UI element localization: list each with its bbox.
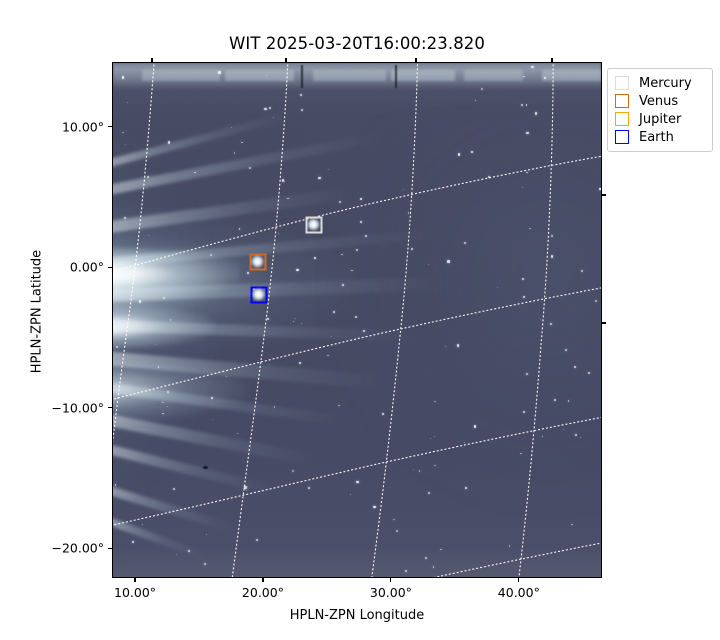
- star: [551, 235, 553, 237]
- legend-swatch-jupiter: [615, 112, 629, 126]
- star: [497, 287, 498, 288]
- star: [403, 189, 404, 190]
- star: [540, 319, 541, 320]
- star: [588, 372, 590, 374]
- star: [393, 519, 394, 520]
- x-tick-bottom: [262, 578, 263, 582]
- star: [314, 257, 316, 259]
- star: [428, 492, 430, 494]
- star: [299, 362, 301, 364]
- x-tick-top: [415, 58, 416, 62]
- y-tick-label: −20.00°: [12, 541, 104, 556]
- star: [428, 264, 429, 265]
- figure-canvas: WIT 2025-03-20T16:00:23.820: [0, 0, 720, 640]
- star: [300, 94, 302, 96]
- y-tick-right: [602, 194, 606, 195]
- star: [295, 318, 296, 319]
- star: [554, 399, 556, 401]
- x-tick-bottom: [518, 578, 519, 582]
- star: [574, 366, 576, 368]
- legend-label-mercury: Mercury: [639, 76, 692, 91]
- plot-title: WIT 2025-03-20T16:00:23.820: [112, 34, 602, 53]
- x-tick-label: 30.00°: [370, 585, 412, 600]
- star: [125, 144, 126, 145]
- top-band-streak: [464, 70, 523, 81]
- star: [147, 176, 149, 178]
- star: [550, 323, 552, 325]
- star: [122, 76, 124, 78]
- star: [308, 487, 310, 489]
- legend-item-jupiter[interactable]: Jupiter: [615, 110, 706, 128]
- top-band-streak: [391, 70, 454, 81]
- planet-marker-mercury[interactable]: [305, 216, 322, 233]
- star: [520, 453, 521, 454]
- star: [568, 400, 570, 402]
- y-tick-label: 10.00°: [12, 119, 104, 134]
- star: [464, 442, 465, 443]
- star: [522, 278, 524, 280]
- star: [430, 438, 431, 439]
- star: [458, 153, 460, 155]
- star: [434, 465, 435, 466]
- star: [176, 554, 177, 555]
- y-tick-left: [108, 267, 112, 268]
- diffuse-background-glow: [308, 114, 601, 525]
- x-tick-label: 40.00°: [498, 585, 540, 600]
- star: [274, 406, 275, 407]
- corona-bright-lobe-bottom: [113, 361, 250, 423]
- y-tick-left: [108, 126, 112, 127]
- planet-glow-earth: [253, 289, 265, 301]
- star: [544, 77, 546, 79]
- star: [526, 132, 528, 134]
- star: [481, 88, 482, 89]
- star: [440, 549, 441, 550]
- star: [267, 318, 269, 320]
- star: [571, 524, 573, 526]
- planet-marker-venus[interactable]: [249, 253, 266, 270]
- x-axis-label: HPLN-ZPN Longitude: [112, 608, 602, 623]
- star: [581, 270, 583, 272]
- legend-swatch-mercury: [615, 76, 629, 90]
- legend-label-venus: Venus: [639, 94, 678, 109]
- star: [244, 486, 246, 488]
- star: [162, 402, 163, 403]
- star: [509, 545, 510, 546]
- star: [249, 167, 251, 169]
- corona-bright-lobe-upper: [113, 248, 240, 299]
- top-band-streak: [225, 70, 293, 81]
- x-tick-top: [551, 58, 552, 62]
- star: [226, 376, 227, 377]
- star: [163, 297, 165, 299]
- star: [167, 391, 169, 393]
- corona-bright-lobe-lower: [113, 305, 215, 349]
- star: [457, 344, 459, 346]
- star: [595, 300, 597, 302]
- star: [122, 132, 123, 133]
- planet-glow-venus: [252, 256, 264, 268]
- star: [599, 188, 601, 190]
- x-tick-label: 20.00°: [242, 585, 284, 600]
- legend-label-jupiter: Jupiter: [639, 112, 681, 127]
- star: [278, 233, 279, 234]
- star: [447, 260, 449, 262]
- star: [292, 470, 293, 471]
- star: [373, 506, 375, 508]
- star: [338, 405, 340, 407]
- x-tick-label: 10.00°: [114, 585, 156, 600]
- dark-column-artifact: [395, 65, 397, 89]
- star: [411, 248, 413, 250]
- y-tick-label: −10.00°: [12, 400, 104, 415]
- star: [148, 235, 149, 236]
- legend-item-earth[interactable]: Earth: [615, 128, 706, 146]
- star: [356, 249, 358, 251]
- dark-column-artifact: [301, 65, 303, 89]
- star: [526, 373, 528, 375]
- star: [301, 109, 303, 111]
- star: [204, 563, 206, 565]
- legend-label-earth: Earth: [639, 130, 674, 145]
- legend-swatch-earth: [615, 130, 629, 144]
- star: [339, 201, 341, 203]
- star: [269, 364, 270, 365]
- star: [396, 530, 397, 531]
- star: [116, 346, 118, 348]
- x-tick-top: [285, 58, 286, 62]
- y-tick-left: [108, 548, 112, 549]
- star: [550, 82, 551, 83]
- planet-glow-mercury: [308, 219, 320, 231]
- planet-marker-earth[interactable]: [250, 286, 267, 303]
- star: [210, 254, 212, 256]
- legend-box[interactable]: MercuryVenusJupiterEarth: [607, 68, 713, 152]
- star: [264, 108, 266, 110]
- star: [318, 177, 320, 179]
- star: [382, 413, 384, 415]
- star: [365, 235, 367, 237]
- star: [173, 488, 175, 490]
- legend-item-mercury[interactable]: Mercury: [615, 74, 706, 92]
- top-band-streak: [542, 70, 601, 81]
- x-tick-top: [151, 58, 152, 62]
- star: [464, 242, 466, 244]
- y-tick-left: [108, 407, 112, 408]
- star: [284, 181, 285, 182]
- star: [363, 330, 365, 332]
- plot-axes[interactable]: [112, 62, 602, 578]
- y-axis-label: HPLN-ZPN Latitude: [30, 212, 45, 412]
- top-band-streak: [313, 70, 386, 81]
- star: [521, 104, 523, 106]
- y-tick-right: [602, 322, 606, 323]
- y-tick-label: 0.00°: [12, 260, 104, 275]
- legend-item-venus[interactable]: Venus: [615, 92, 706, 110]
- star: [360, 221, 362, 223]
- legend-swatch-venus: [615, 94, 629, 108]
- star: [434, 436, 435, 437]
- top-band-streak: [142, 70, 220, 81]
- star: [218, 71, 220, 73]
- heliospheric-image: [113, 63, 601, 577]
- star: [356, 481, 358, 483]
- star: [124, 217, 126, 219]
- star: [565, 349, 567, 351]
- star: [170, 319, 171, 320]
- star: [327, 355, 328, 356]
- star: [296, 269, 298, 271]
- star: [155, 344, 156, 345]
- x-tick-bottom: [390, 578, 391, 582]
- x-tick-bottom: [134, 578, 135, 582]
- star: [563, 429, 564, 430]
- star: [269, 107, 271, 109]
